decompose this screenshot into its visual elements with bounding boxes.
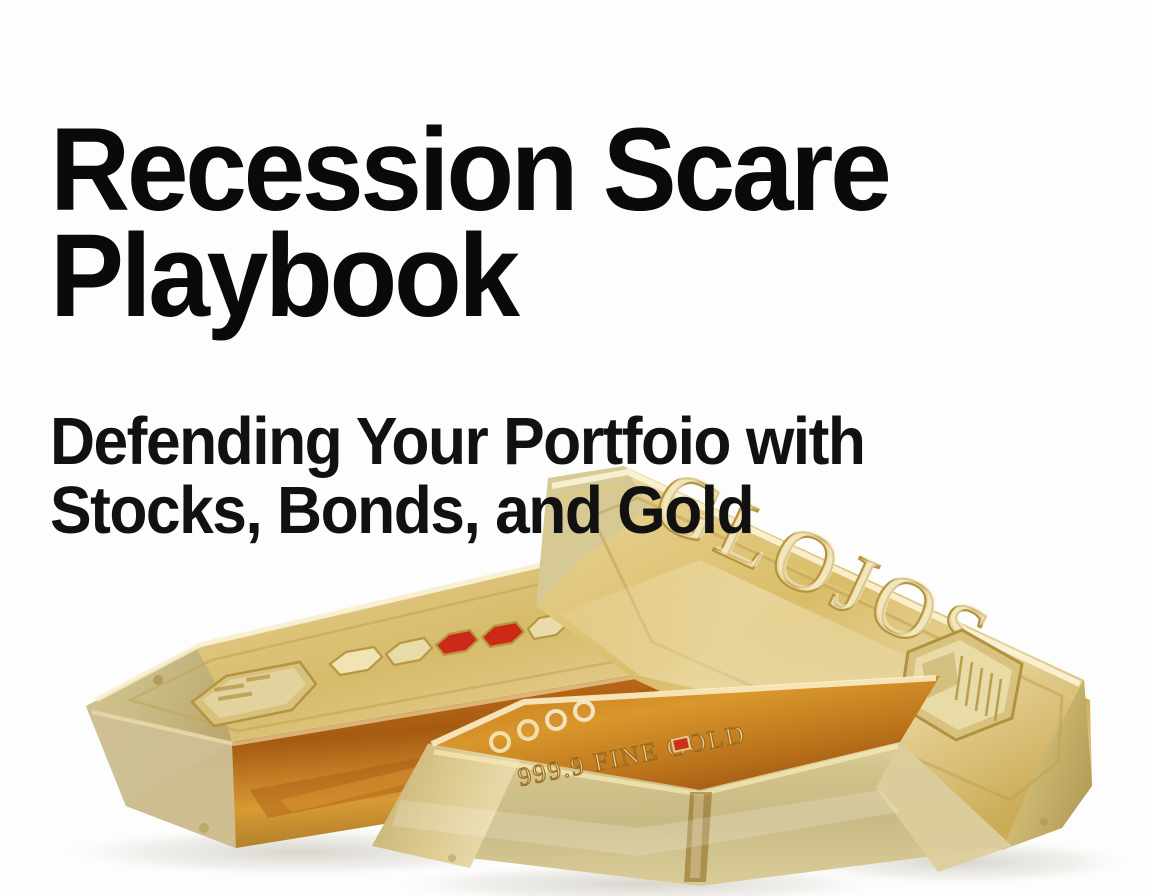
bar-dimple [199,823,209,833]
headline-line-2: Playbook [50,223,1056,329]
middle-bar-logo-stamp [192,662,316,726]
bar-dimple [1040,818,1048,826]
subhead-line-2: Stocks, Bonds, and Gold [50,477,1045,545]
bar-dimple [153,675,163,685]
front-bar-stamps: 999.9 FINE GOLD [491,702,748,792]
shadow-top-bar [780,838,1140,886]
bar-dimple [448,854,456,862]
gold-bar-front: 999.9 FINE GOLD [372,676,1012,886]
headline-line-1: Recession Scare [50,117,1056,223]
subhead-line-1: Defending Your Portfoio with [50,408,1045,476]
page-title: Recession Scare Playbook [50,117,1056,329]
top-bar-ridged-seal [900,630,1022,740]
shadow-front-bar [380,862,900,896]
shadow-middle-bar [50,826,550,878]
front-bar-fineness-text: 999.9 FINE GOLD [516,719,749,792]
poster-canvas: GLOJOS GLOJOS [0,0,1152,896]
poster-text-block: Recession Scare Playbook Defending Your … [50,38,1120,601]
page-subtitle: Defending Your Portfoio with Stocks, Bon… [50,408,1045,545]
middle-bar-hallmarks [330,606,610,675]
